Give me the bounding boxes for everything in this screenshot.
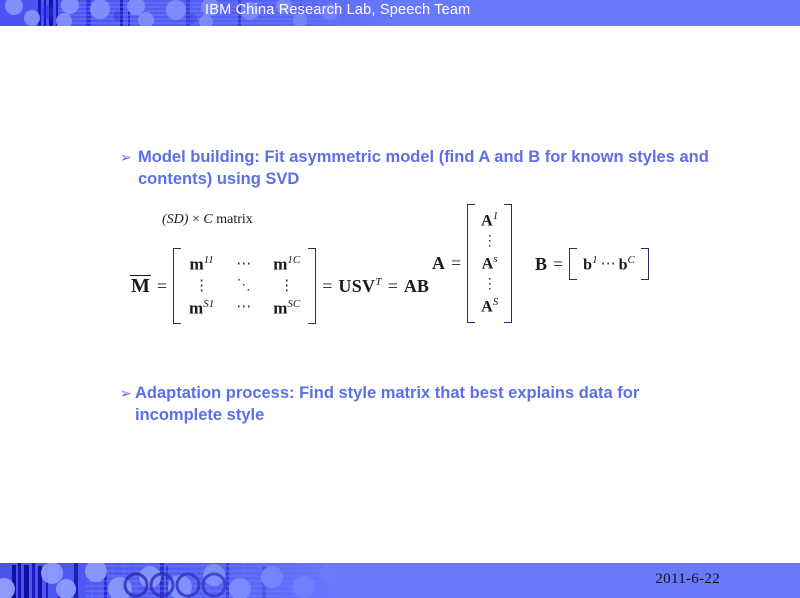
a-entry-1: A1 bbox=[481, 211, 498, 230]
caption-close-paren: ) bbox=[184, 212, 189, 227]
matrix-cell-r2c3: ⋮ bbox=[279, 279, 294, 294]
equals-sign-1: = bbox=[157, 276, 167, 297]
matrix-cell-r3c3: mSC bbox=[273, 298, 300, 319]
slide-header-band: IBM China Research Lab, Speech Team bbox=[0, 0, 800, 26]
a-entry-4: ⋮ bbox=[483, 278, 497, 292]
caption-sd: SD bbox=[167, 212, 184, 227]
matrix-cell-r2c2: ⋱ bbox=[237, 279, 251, 293]
matrix-cell-r1c1: m11 bbox=[189, 254, 213, 275]
m-matrix-bracket: m11 ⋯ m1C ⋮ ⋱ ⋮ mS1 ⋯ mSC bbox=[173, 248, 316, 324]
equals-sign-2: = bbox=[322, 276, 332, 297]
b-entry-last: bC bbox=[619, 254, 635, 274]
matrix-cell-r1c2: ⋯ bbox=[236, 257, 251, 272]
b-vector-row: b1 ⋯ bC bbox=[579, 252, 639, 276]
caption-c: C bbox=[203, 212, 212, 227]
bullet-item-model-building: ➢ Model building: Fit asymmetric model (… bbox=[120, 146, 740, 190]
b-equals-sign: = bbox=[553, 254, 563, 275]
b-vector-bracket: b1 ⋯ bC bbox=[569, 248, 649, 280]
equation-m: M = m11 ⋯ m1C ⋮ ⋱ ⋮ mS1 ⋯ mSC = USVT = A… bbox=[130, 248, 429, 324]
chevron-bullet-icon: ➢ bbox=[120, 382, 132, 404]
equation-b: B = b1 ⋯ bC bbox=[535, 248, 649, 280]
matrix-cell-r3c1: mS1 bbox=[189, 298, 214, 319]
slide-footer-band: 2011-6-22 bbox=[0, 563, 800, 598]
a-vector-bracket: A1 ⋮ As ⋮ AS bbox=[467, 204, 512, 323]
footer-decoration-pattern bbox=[0, 563, 340, 598]
a-entry-5: AS bbox=[481, 297, 498, 316]
matrix-dimension-caption: (SD) × C matrix bbox=[162, 212, 253, 228]
equals-sign-3: = bbox=[388, 276, 398, 297]
chevron-bullet-icon: ➢ bbox=[120, 146, 132, 168]
slide-canvas: IBM China Research Lab, Speech Team ➢ Mo… bbox=[0, 0, 800, 598]
caption-matrix-word: matrix bbox=[216, 212, 253, 227]
a-symbol: A bbox=[432, 253, 445, 274]
b-symbol: B bbox=[535, 254, 547, 275]
a-vector-column: A1 ⋮ As ⋮ AS bbox=[477, 208, 502, 319]
svd-term: USVT bbox=[338, 276, 381, 297]
footer-date: 2011-6-22 bbox=[655, 571, 720, 588]
m-matrix-grid: m11 ⋯ m1C ⋮ ⋱ ⋮ mS1 ⋯ mSC bbox=[183, 252, 306, 320]
bullet-text: Adaptation process: Find style matrix th… bbox=[135, 382, 720, 426]
m-bar-symbol: M bbox=[130, 275, 151, 297]
caption-times: × bbox=[192, 212, 200, 227]
matrix-cell-r1c3: m1C bbox=[273, 254, 300, 275]
a-entry-2: ⋮ bbox=[483, 235, 497, 249]
math-formula-area: (SD) × C matrix M = m11 ⋯ m1C ⋮ ⋱ ⋮ mS1 … bbox=[130, 200, 690, 355]
matrix-cell-r3c2: ⋯ bbox=[236, 300, 251, 315]
header-title: IBM China Research Lab, Speech Team bbox=[205, 2, 470, 18]
a-equals-sign: = bbox=[451, 253, 461, 274]
ab-term: AB bbox=[404, 276, 429, 297]
bullet-text: Model building: Fit asymmetric model (fi… bbox=[138, 146, 740, 190]
matrix-cell-r2c1: ⋮ bbox=[194, 279, 209, 294]
bullet-item-adaptation-process: ➢ Adaptation process: Find style matrix … bbox=[120, 382, 720, 426]
b-entry-dots: ⋯ bbox=[601, 257, 616, 272]
a-entry-3: As bbox=[482, 254, 498, 273]
b-entry-first: b1 bbox=[583, 254, 597, 274]
equation-a: A = A1 ⋮ As ⋮ AS bbox=[432, 204, 512, 323]
